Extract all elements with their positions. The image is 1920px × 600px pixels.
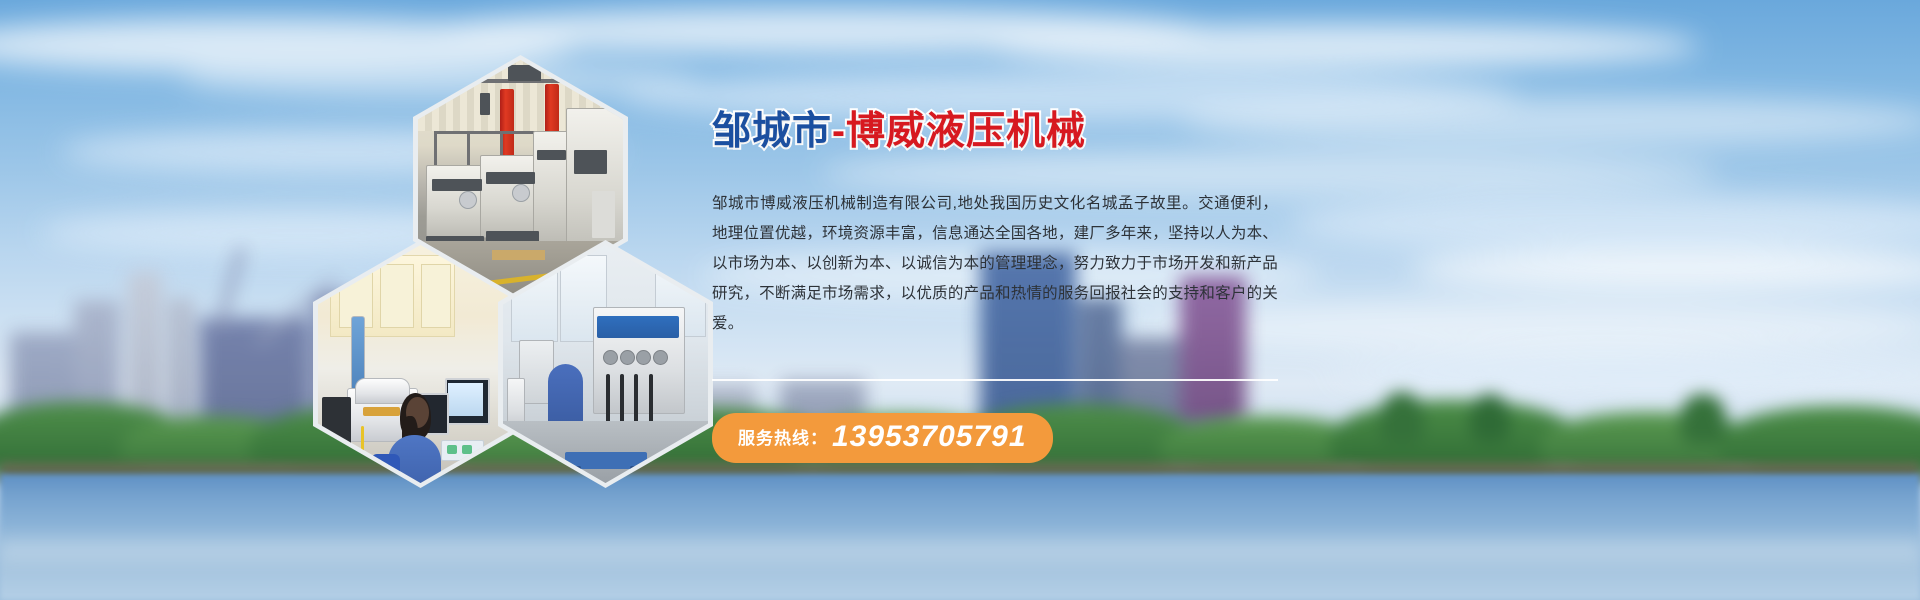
hotline-label: 服务热线： [738,424,828,449]
hotline-number: 13953705791 [832,422,1027,452]
company-banner: 邹城市-博威液压机械 邹城市博威液压机械制造有限公司,地处我国历史文化名城孟子故… [0,0,1920,600]
content-divider [712,379,1278,381]
hotline-button[interactable]: 服务热线： 13953705791 [712,413,1053,463]
water-highlight [0,530,1920,570]
title-city-part: 邹城市 [712,110,832,153]
banner-content: 邹城市-博威液压机械 邹城市博威液压机械制造有限公司,地处我国历史文化名城孟子故… [712,110,1312,463]
company-intro-text: 邹城市博威液压机械制造有限公司,地处我国历史文化名城孟子故里。交通便利，地理位置… [712,189,1278,339]
hexagon-photo-cluster [300,55,700,450]
title-company-part: -博威液压机械 [832,110,1086,153]
page-title: 邹城市-博威液压机械 [712,110,1312,155]
